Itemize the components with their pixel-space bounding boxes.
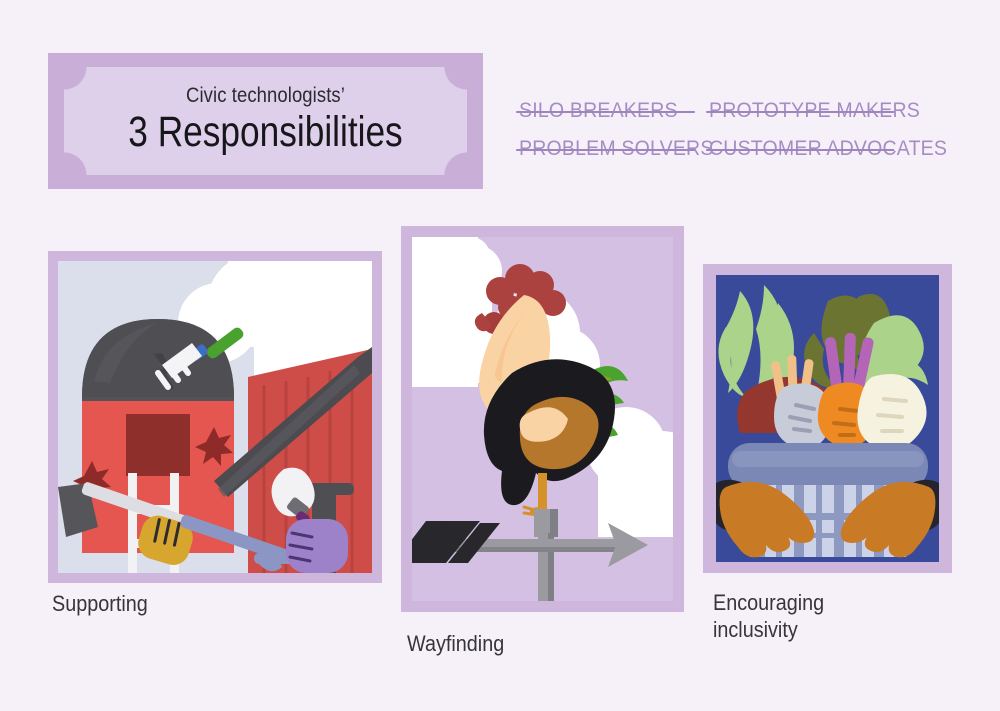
struck-role-item: SILO BREAKERS — [519, 99, 696, 123]
panel-caption-encouraging-inclusivity: Encouraging inclusivity — [713, 590, 824, 644]
struck-role-item: PROTOTYPE MAKERS — [709, 99, 895, 123]
page-title: 3 Responsibilities — [87, 109, 444, 155]
title-eyebrow: Civic technologists’ — [74, 85, 457, 106]
title-text-block: Civic technologists’ 3 Responsibilities — [48, 85, 483, 155]
struck-role-list: SILO BREAKERS PROTOTYPE MAKERS PROBLEM S… — [519, 92, 919, 168]
illustration-rooster-weathervane — [412, 237, 673, 601]
panel-caption-wayfinding: Wayfinding — [407, 631, 504, 658]
illustration-barn-with-garden-tools — [58, 261, 372, 573]
illustration-hands-holding-vegetable-basket — [716, 275, 939, 562]
struck-role-item: PROBLEM SOLVERS — [519, 137, 696, 161]
struck-role-item: CUSTOMER ADVOCATES — [709, 137, 895, 161]
title-ticket: Civic technologists’ 3 Responsibilities — [48, 53, 483, 189]
panel-caption-supporting: Supporting — [52, 591, 148, 618]
